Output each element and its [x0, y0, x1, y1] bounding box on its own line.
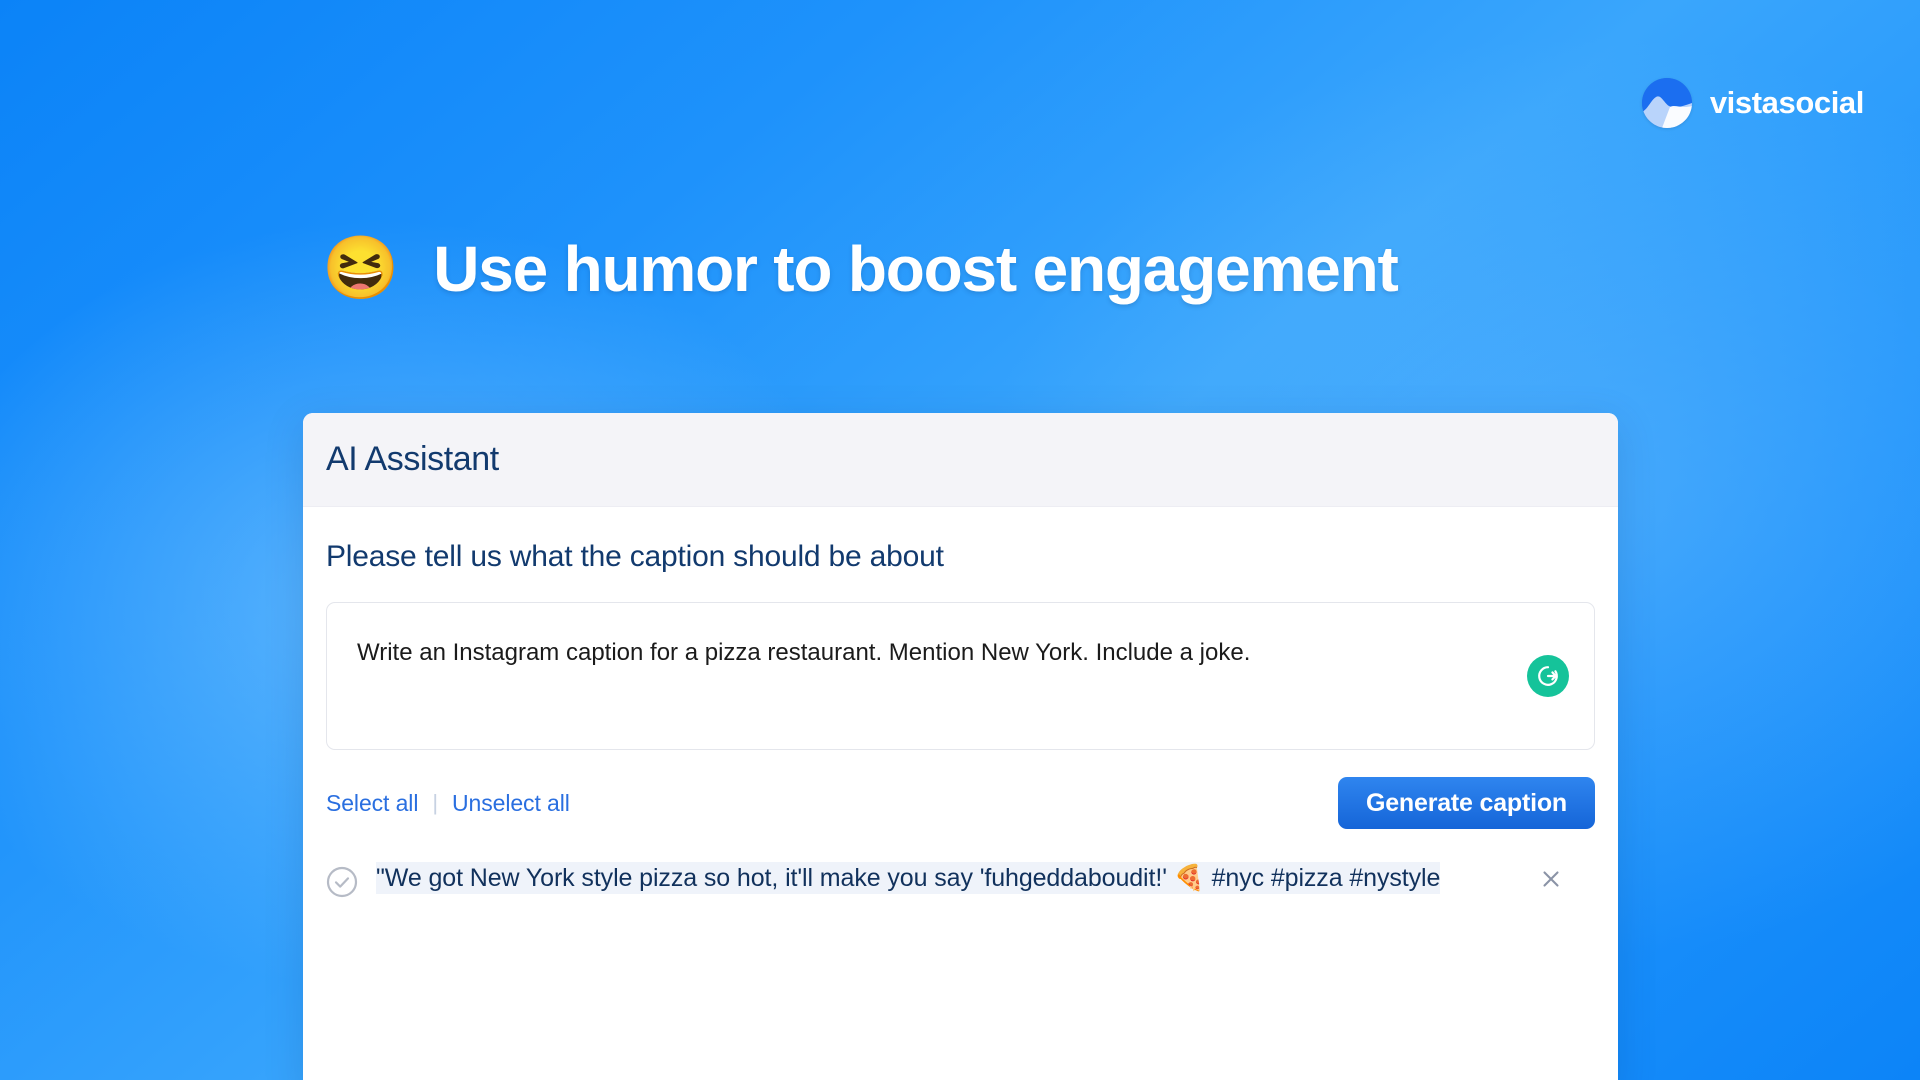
- caption-result-item: "We got New York style pizza so hot, it'…: [326, 862, 1595, 903]
- brand-name: vistasocial: [1710, 85, 1864, 121]
- brand-logo: vistasocial: [1642, 78, 1864, 128]
- headline-text: Use humor to boost engagement: [433, 232, 1397, 306]
- caption-result-highlight: "We got New York style pizza so hot, it'…: [376, 862, 1440, 894]
- caption-result-text[interactable]: "We got New York style pizza so hot, it'…: [376, 862, 1506, 895]
- ai-assistant-card: AI Assistant Please tell us what the cap…: [303, 413, 1618, 1080]
- card-header: AI Assistant: [303, 413, 1618, 507]
- generate-caption-button[interactable]: Generate caption: [1338, 777, 1595, 829]
- page-title: 😆 Use humor to boost engagement: [322, 232, 1398, 306]
- laughing-squinting-face-emoji: 😆: [322, 238, 399, 300]
- link-separator: |: [432, 790, 438, 816]
- grammarly-icon[interactable]: [1527, 655, 1569, 697]
- card-title: AI Assistant: [326, 440, 499, 479]
- card-body: Please tell us what the caption should b…: [303, 507, 1618, 903]
- vistasocial-mountain-logo: [1642, 78, 1692, 128]
- page-background: vistasocial 😆 Use humor to boost engagem…: [0, 0, 1920, 1080]
- actions-row: Select all | Unselect all Generate capti…: [326, 774, 1595, 832]
- close-icon[interactable]: [1534, 864, 1568, 898]
- unselect-all-link[interactable]: Unselect all: [452, 790, 570, 817]
- prompt-label: Please tell us what the caption should b…: [326, 540, 1595, 574]
- circle-check-icon[interactable]: [326, 866, 358, 903]
- select-all-link[interactable]: Select all: [326, 790, 418, 817]
- prompt-input-value: Write an Instagram caption for a pizza r…: [357, 637, 1504, 669]
- prompt-input[interactable]: Write an Instagram caption for a pizza r…: [326, 602, 1595, 750]
